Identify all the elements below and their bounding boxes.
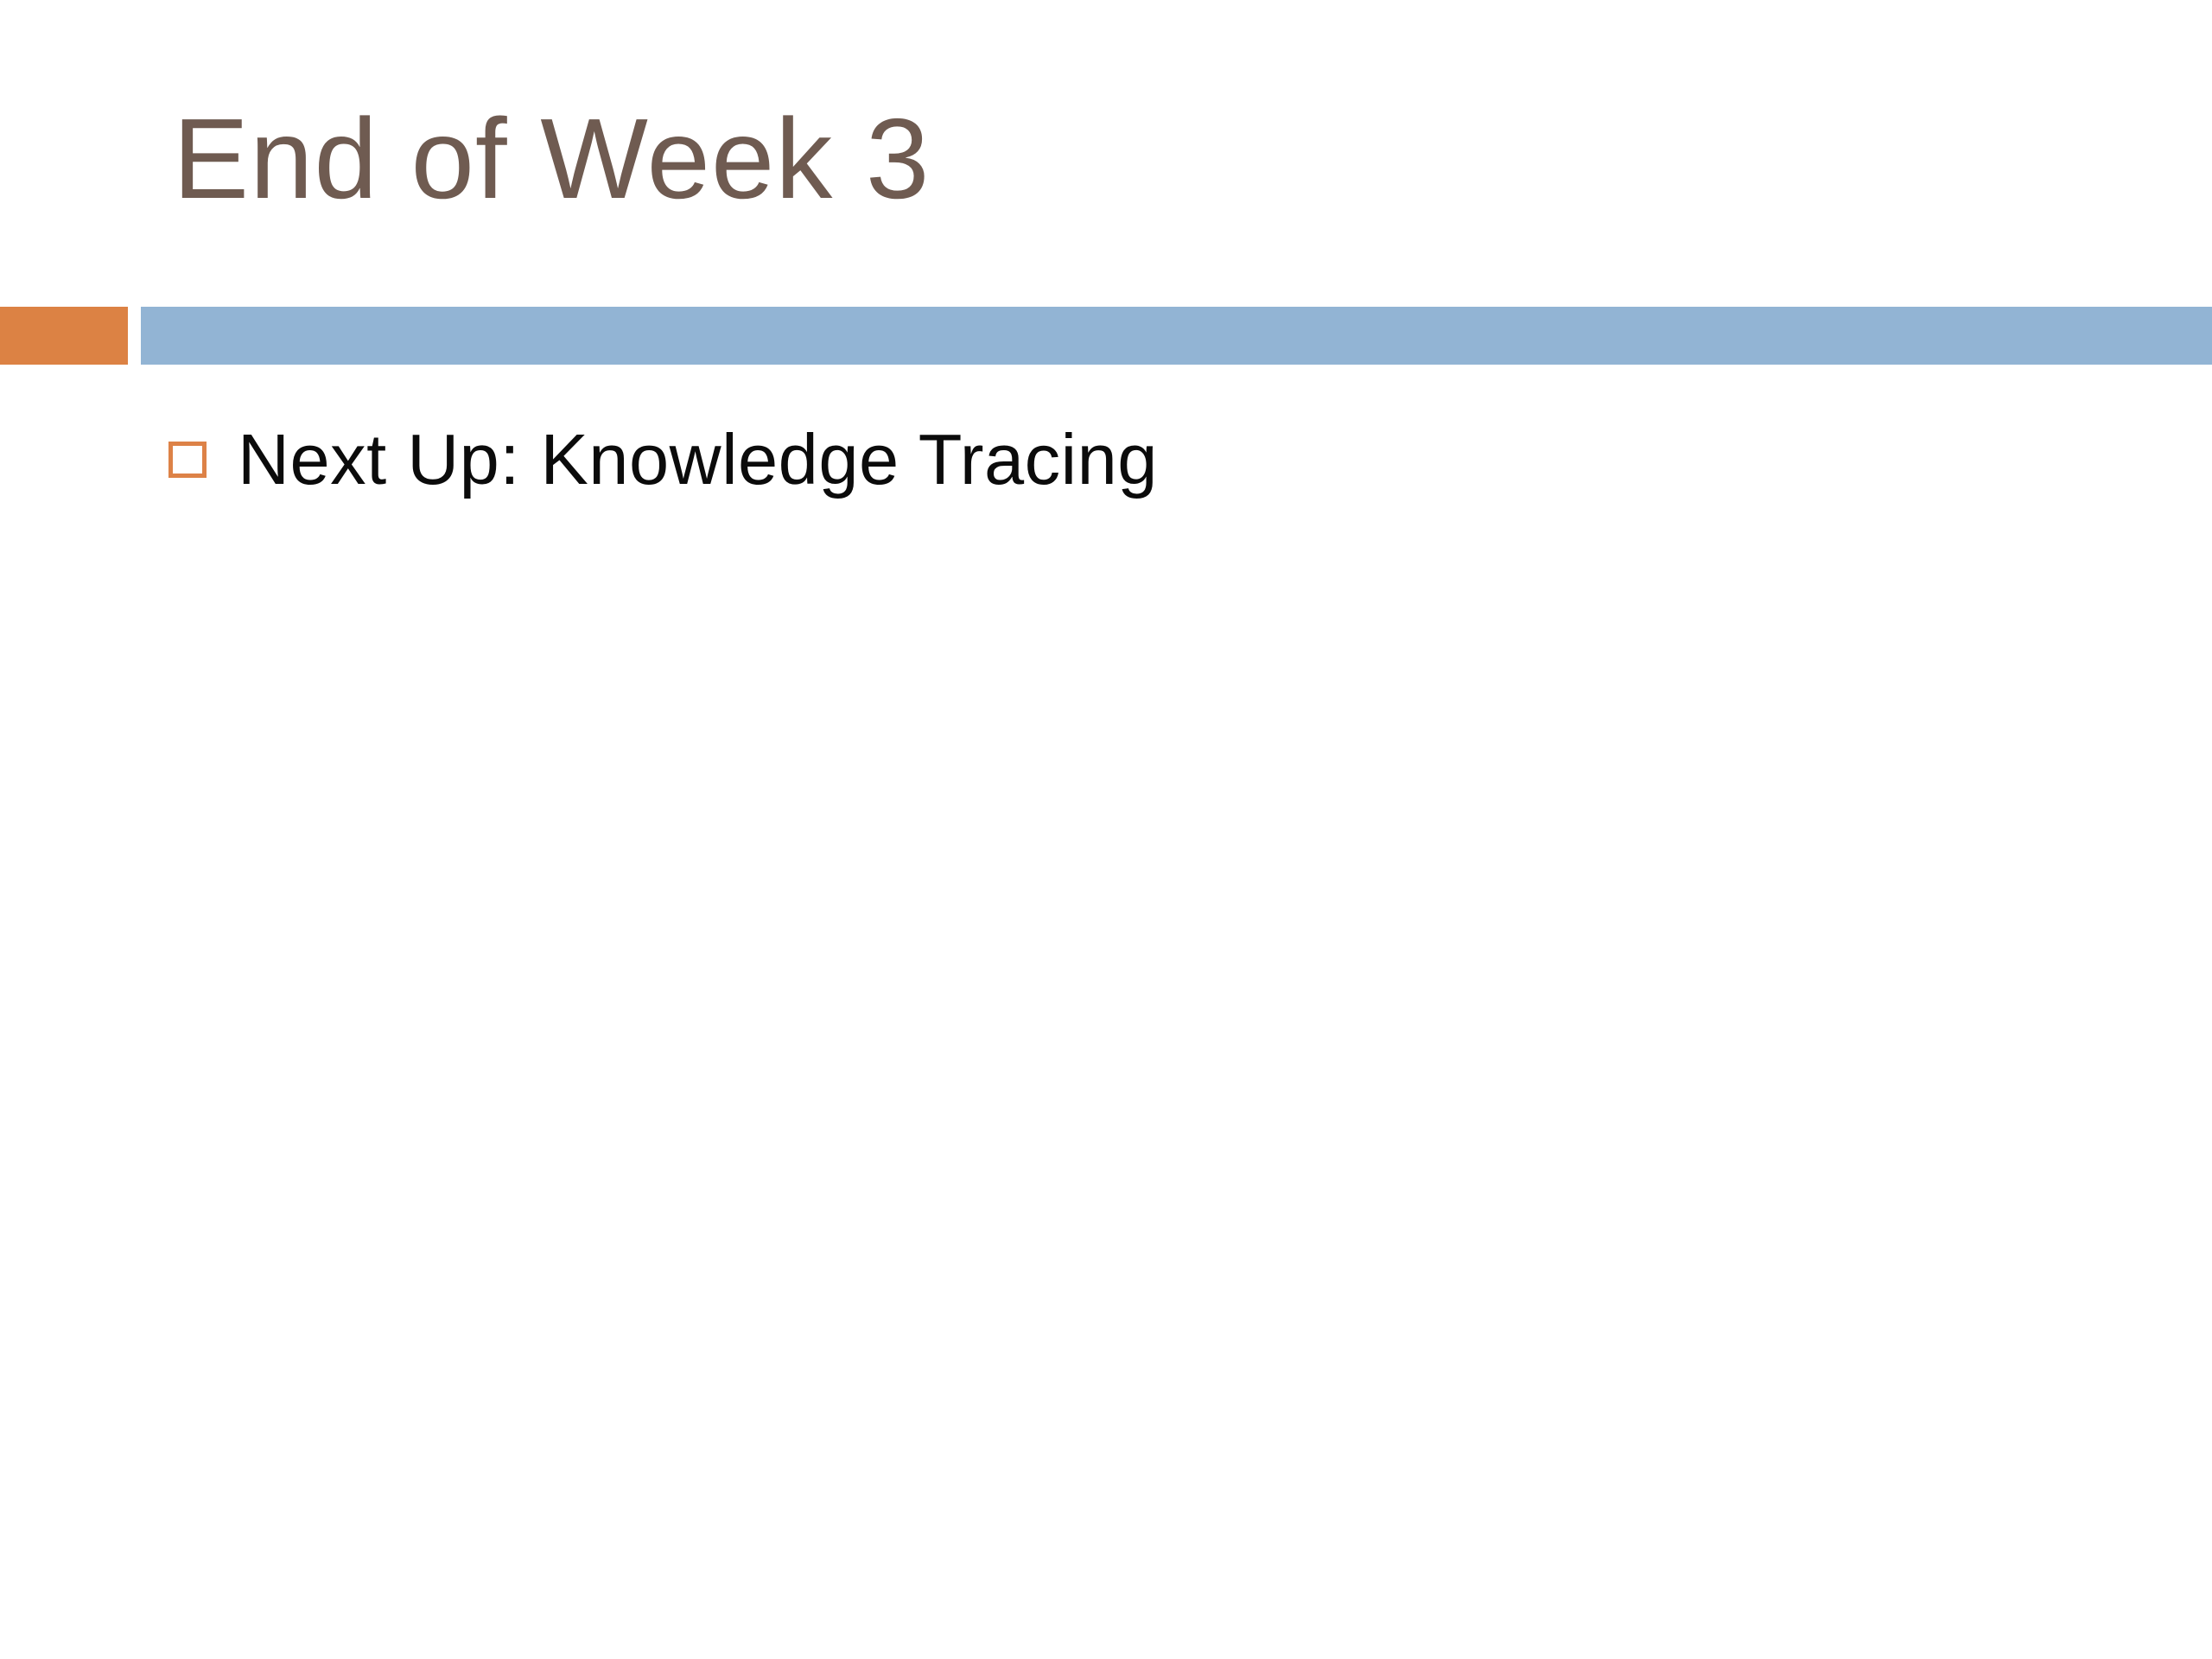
title-divider xyxy=(0,307,2212,365)
divider-main-bar xyxy=(141,307,2212,365)
hollow-square-bullet-icon xyxy=(168,442,207,478)
bullet-list: Next Up: Knowledge Tracing xyxy=(168,415,2113,519)
slide: End of Week 3 Next Up: Knowledge Tracing xyxy=(0,0,2212,1659)
list-item: Next Up: Knowledge Tracing xyxy=(168,415,2113,504)
divider-accent-block xyxy=(0,307,128,365)
page-title: End of Week 3 xyxy=(173,93,2074,232)
list-item-label: Next Up: Knowledge Tracing xyxy=(238,415,2113,504)
